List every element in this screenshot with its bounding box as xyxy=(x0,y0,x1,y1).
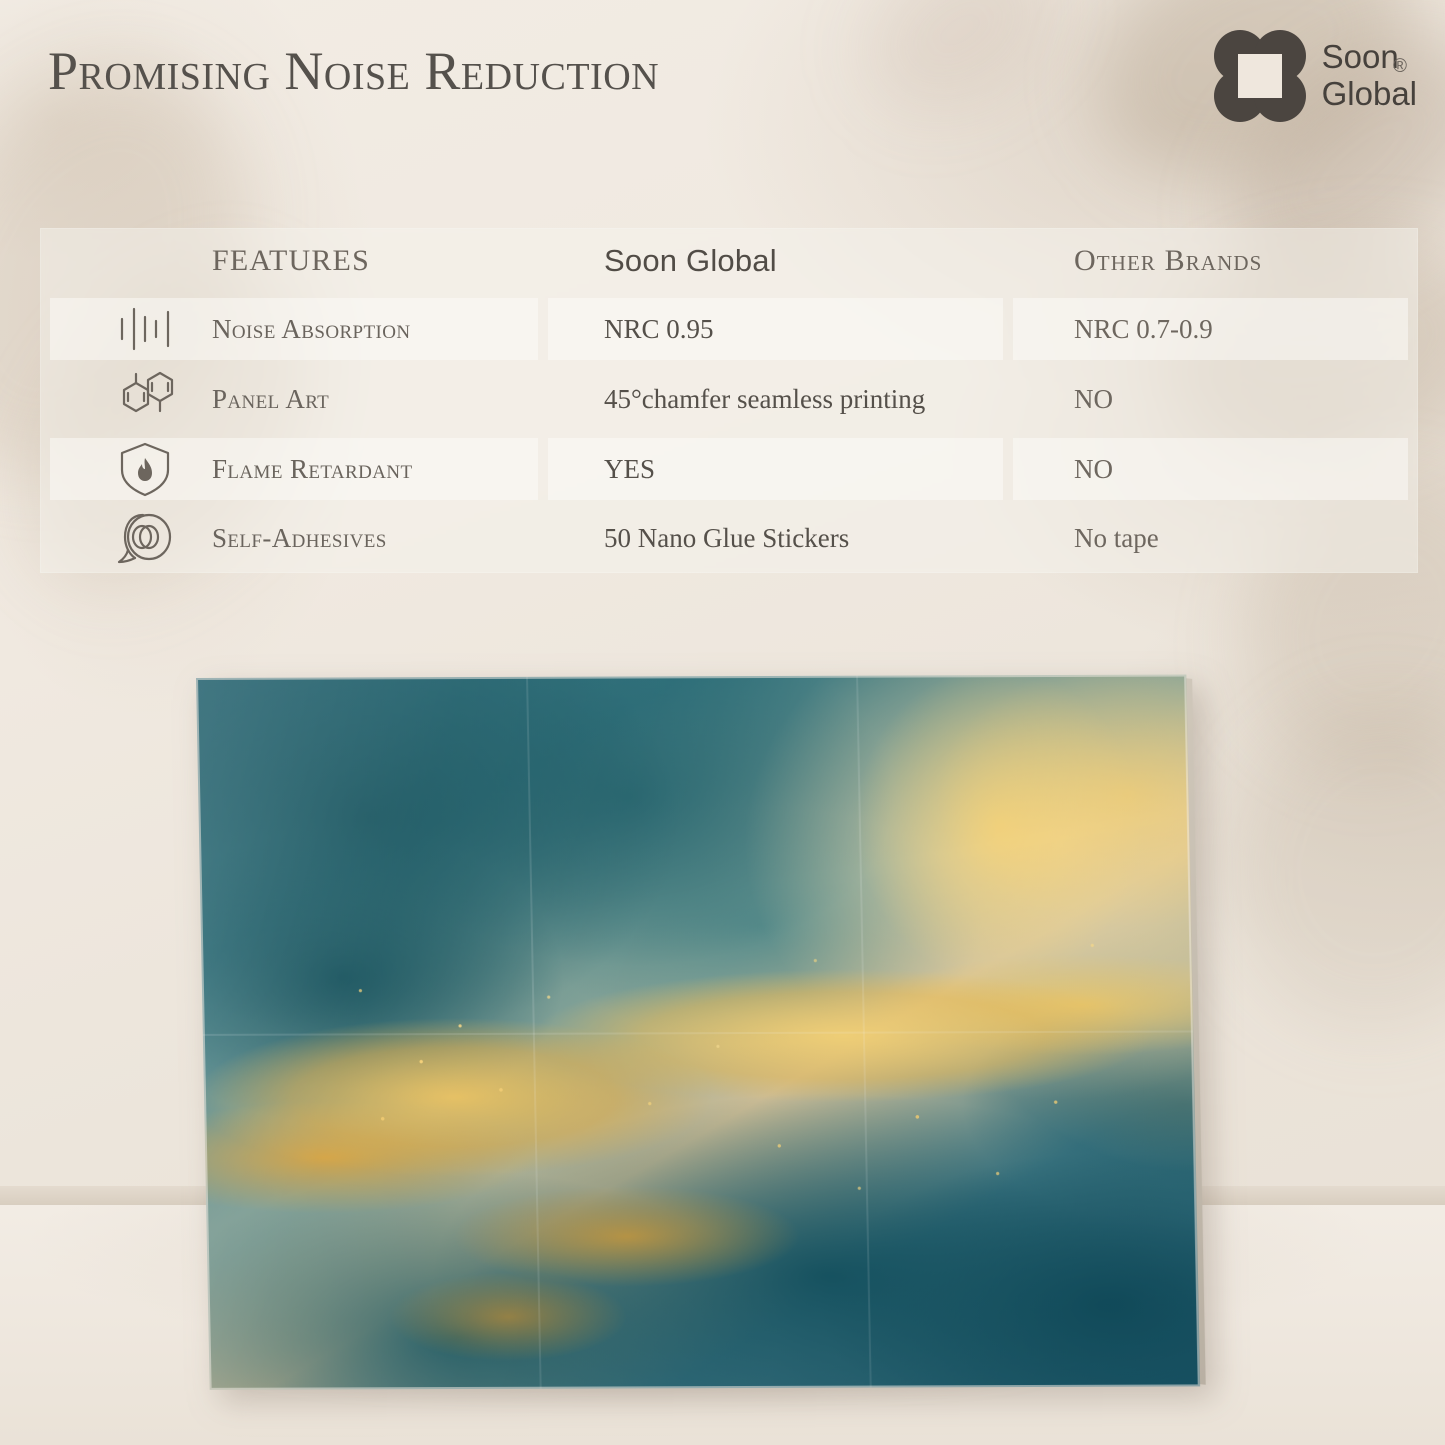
registered-trademark-icon: ® xyxy=(1393,56,1407,78)
column-header-soon-global: Soon Global xyxy=(604,243,777,279)
table-row: Flame Retardant YES NO xyxy=(40,434,1418,504)
feature-label: Panel Art xyxy=(212,384,552,415)
page-title: Promising Noise Reduction xyxy=(48,40,659,102)
molecule-hexagon-icon xyxy=(102,370,188,428)
feature-label: Self-Adhesives xyxy=(212,523,552,554)
comparison-table: FEATURES Soon Global Other Brands Noise … xyxy=(40,228,1418,573)
leaf-shadow xyxy=(1186,662,1445,1069)
ours-value: 45°chamfer seamless printing xyxy=(604,384,1024,415)
feature-label: Flame Retardant xyxy=(212,454,552,485)
shield-flame-icon xyxy=(102,440,188,498)
other-value: NRC 0.7-0.9 xyxy=(1074,314,1434,345)
table-header-row: FEATURES Soon Global Other Brands xyxy=(40,228,1418,294)
table-row: Noise Absorption NRC 0.95 NRC 0.7-0.9 xyxy=(40,294,1418,364)
feature-label: Noise Absorption xyxy=(212,314,552,345)
brand-line-2: Global xyxy=(1322,76,1417,113)
table-row: Panel Art 45°chamfer seamless printing N… xyxy=(40,364,1418,434)
panel-border xyxy=(196,675,1200,1390)
column-header-other-brands: Other Brands xyxy=(1074,244,1262,278)
other-value: NO xyxy=(1074,454,1434,485)
ours-value: 50 Nano Glue Stickers xyxy=(604,523,1024,554)
other-value: No tape xyxy=(1074,523,1434,554)
ours-value: NRC 0.95 xyxy=(604,314,1024,345)
brand-logo: Soon Global ® xyxy=(1214,30,1417,122)
other-value: NO xyxy=(1074,384,1434,415)
leaf-shadow xyxy=(838,0,1082,142)
sound-wave-icon xyxy=(102,303,188,355)
tape-roll-icon xyxy=(102,510,188,568)
column-header-features: FEATURES xyxy=(212,244,370,278)
four-circle-square-logo-icon xyxy=(1214,30,1306,122)
ours-value: YES xyxy=(604,454,1024,485)
acoustic-panel-artwork xyxy=(196,675,1200,1390)
table-row: Self-Adhesives 50 Nano Glue Stickers No … xyxy=(40,504,1418,573)
poster-canvas: Promising Noise Reduction Soon Global ® … xyxy=(0,0,1445,1445)
